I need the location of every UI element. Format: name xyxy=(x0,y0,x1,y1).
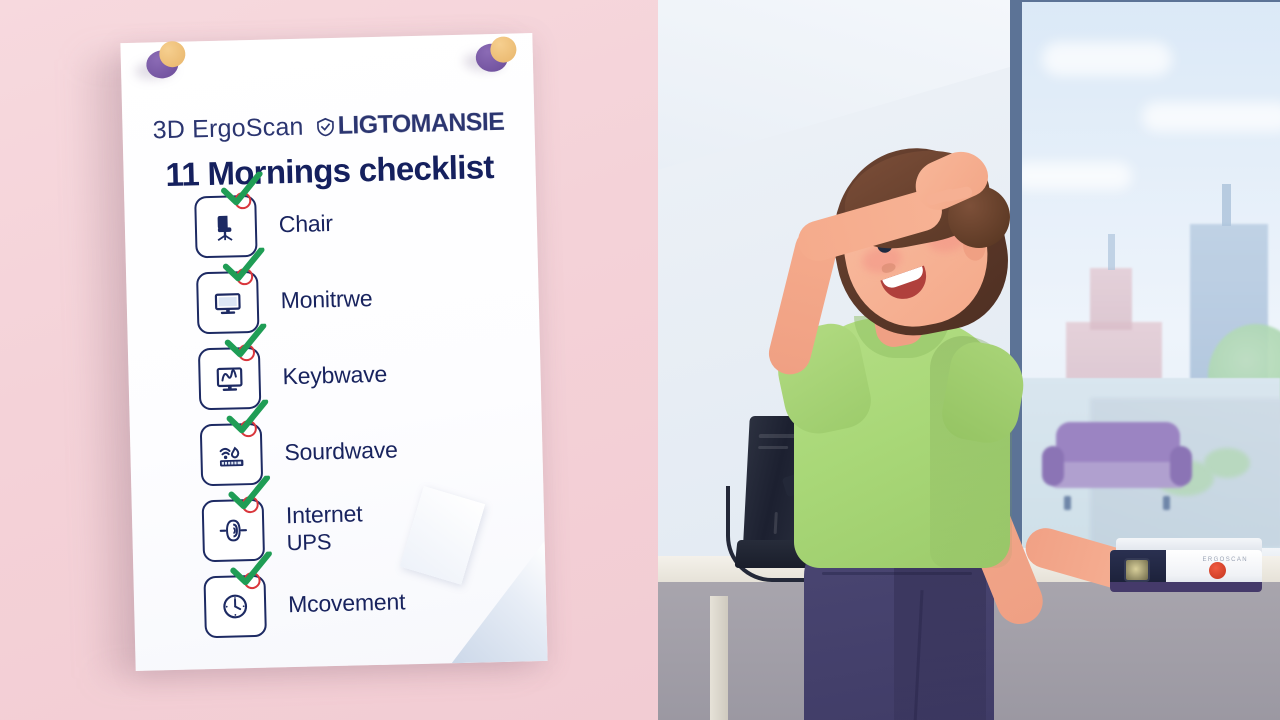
office-scene: ERGOSCAN xyxy=(658,0,1280,720)
window-frame-top xyxy=(1010,0,1280,2)
illustration-canvas: 3D ErgoScan LIGTOMANSIE 11 Mornings chec… xyxy=(0,0,1280,720)
window-glass xyxy=(1022,2,1280,548)
waistband xyxy=(822,572,972,575)
shield-badge-icon xyxy=(315,115,335,135)
sofa-leg xyxy=(1163,496,1170,510)
clocktower-spire xyxy=(1108,234,1115,270)
checklist-item-sound[interactable]: Sourdwave xyxy=(200,409,532,493)
cloud xyxy=(1142,102,1280,132)
checklist: Chair Mo xyxy=(194,181,535,645)
sofa-arm-right xyxy=(1170,446,1192,486)
checklist-item-label: Monitrwe xyxy=(280,285,372,314)
checklist-item-keyboard[interactable]: Keybwave xyxy=(198,333,530,417)
purple-sofa xyxy=(1042,422,1192,500)
poster-brand-row: 3D ErgoScan LIGTOMANSIE xyxy=(122,107,535,146)
pin-disc-gold xyxy=(490,36,518,64)
projector-device[interactable]: ERGOSCAN xyxy=(1110,538,1262,594)
checklist-item-label: Mcovement xyxy=(288,589,406,619)
bush xyxy=(1204,448,1250,478)
checklist-item-internet[interactable]: Internet UPS xyxy=(201,485,533,569)
cloud xyxy=(1042,42,1172,76)
nose xyxy=(881,262,896,274)
sofa-leg xyxy=(1064,496,1071,510)
checklist-item-label: Chair xyxy=(279,210,334,238)
tower-spire xyxy=(1222,184,1231,226)
pin-top-right[interactable] xyxy=(475,35,516,76)
checklist-item-label: Sourdwave xyxy=(284,437,398,467)
sofa-seat xyxy=(1048,462,1188,488)
checklist-item-chair[interactable]: Chair xyxy=(194,181,526,265)
poster-brand-name: 3D ErgoScan xyxy=(152,113,304,145)
checklist-item-label-main: Internet xyxy=(286,501,363,529)
projector-brand-text: ERGOSCAN xyxy=(1202,557,1248,563)
projector-base xyxy=(1110,582,1262,592)
checklist-item-monitor[interactable]: Monitrwe xyxy=(196,257,528,341)
pin-top-left[interactable] xyxy=(144,40,186,82)
checklist-item-label: Keybwave xyxy=(282,361,387,391)
brand-logo-icon xyxy=(1209,562,1226,579)
poster-brand-suffix: LIGTOMANSIE xyxy=(337,108,504,140)
woman-stretching xyxy=(718,120,1058,720)
clocktower-body xyxy=(1090,268,1132,330)
checklist-item-label-sub: UPS xyxy=(286,528,363,556)
checklist-item-label: Internet UPS xyxy=(286,501,364,556)
checklist-poster[interactable]: 3D ErgoScan LIGTOMANSIE 11 Mornings chec… xyxy=(120,33,547,671)
lens-icon xyxy=(1124,558,1150,582)
